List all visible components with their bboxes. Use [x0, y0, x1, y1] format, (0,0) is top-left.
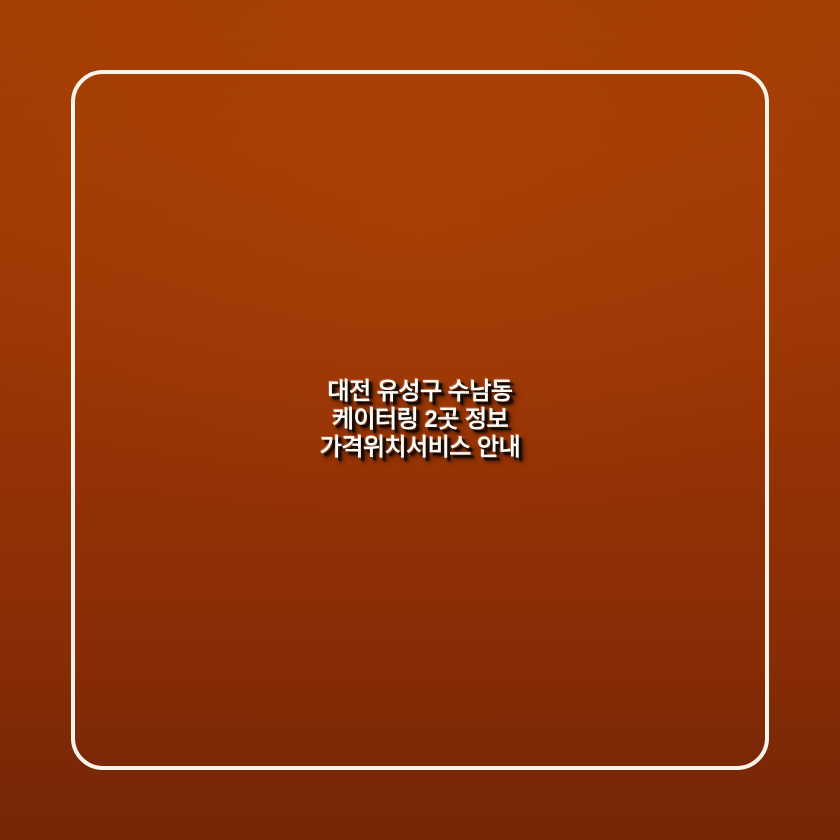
promo-banner: 대전 유성구 수남동 케이터링 2곳 정보 가격위치서비스 안내: [0, 0, 840, 840]
headline-line-2: 케이터링 2곳 정보: [96, 406, 744, 434]
headline-block: 대전 유성구 수남동 케이터링 2곳 정보 가격위치서비스 안내: [0, 0, 840, 840]
headline-line-1: 대전 유성구 수남동: [96, 378, 744, 406]
headline-line-3: 가격위치서비스 안내: [96, 434, 744, 462]
